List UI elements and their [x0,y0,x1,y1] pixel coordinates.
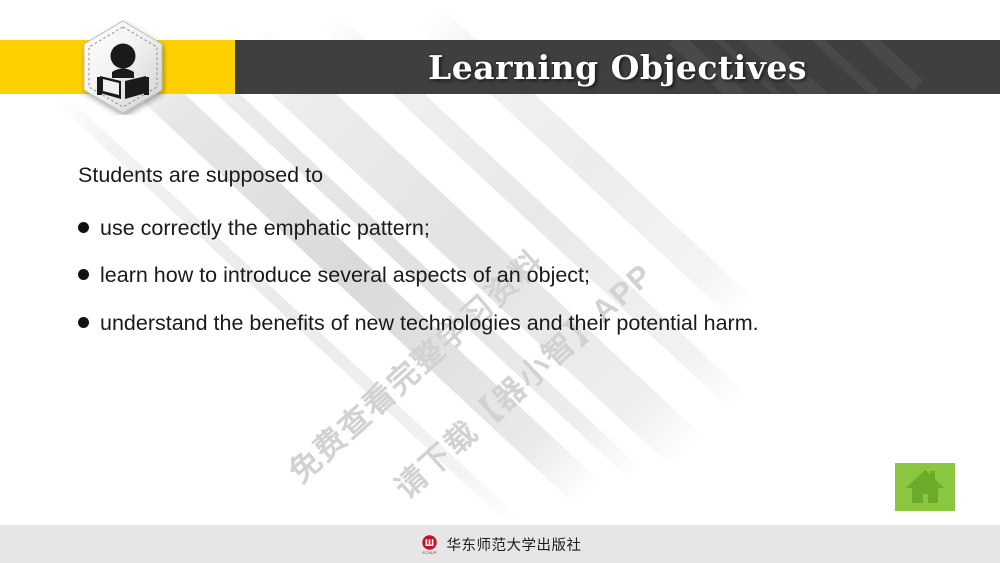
bullet-dot-icon [78,317,89,328]
list-item: understand the benefits of new technolog… [78,312,938,335]
publisher-name: 华东师范大学出版社 [447,534,582,555]
lead-text: Students are supposed to [78,165,938,187]
slide-footer: ECNUP 华东师范大学出版社 [0,525,1000,563]
list-item: use correctly the emphatic pattern; [78,217,938,240]
list-item-label: use correctly the emphatic pattern; [100,217,430,240]
bullet-dot-icon [78,269,89,280]
home-button[interactable] [895,463,955,511]
home-icon [895,463,955,511]
bullet-dot-icon [78,222,89,233]
svg-text:ECNUP: ECNUP [422,550,436,555]
slide-canvas: 免费查看完整学习资料 请下载【器小智】APP Learning Objectiv… [0,0,1000,563]
list-item-label: understand the benefits of new technolog… [100,312,759,335]
page-title: Learning Objectives [235,40,1000,94]
list-item: learn how to introduce several aspects o… [78,264,938,287]
slide-body: Students are supposed to use correctly t… [78,165,938,334]
list-item-label: learn how to introduce several aspects o… [100,264,590,287]
person-reading-book-icon [79,19,167,115]
publisher-logo-icon: ECNUP [419,534,440,555]
objectives-list: use correctly the emphatic pattern; lear… [78,217,938,335]
